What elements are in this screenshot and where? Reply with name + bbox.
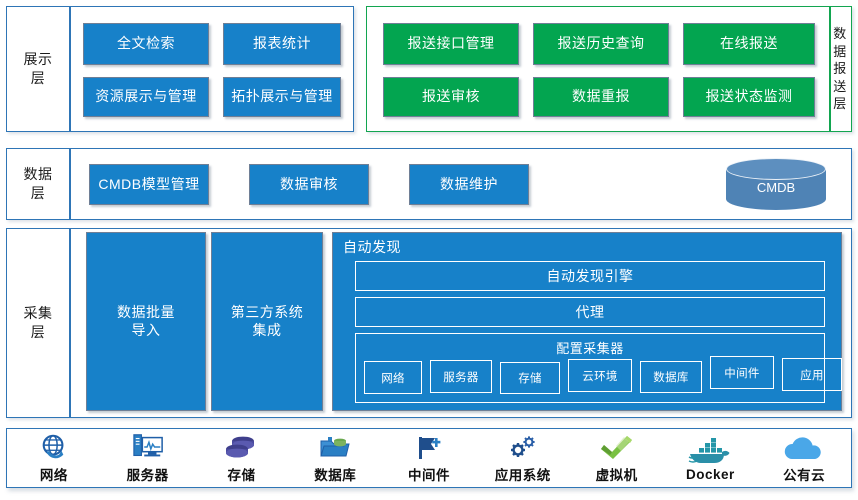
- resource-item-virtual-machine[interactable]: 虚拟机: [570, 429, 664, 487]
- collection-layer-panel: 采集 层 数据批量 导入 第三方系统 集成 自动发现 自动发现引擎 代理 配置采…: [6, 228, 852, 418]
- tile-report-history-query[interactable]: 报送历史查询: [533, 23, 669, 65]
- resource-item-docker[interactable]: Docker: [663, 429, 757, 487]
- cmdb-database-label: CMDB: [757, 180, 795, 195]
- resource-label-storage: 存储: [227, 464, 255, 484]
- database-folder-icon: [318, 432, 352, 462]
- resource-item-public-cloud[interactable]: 公有云: [757, 429, 851, 487]
- data-layer-label-line-2: 层: [31, 185, 46, 201]
- tile-cmdb-model-management[interactable]: CMDB模型管理: [89, 164, 209, 205]
- docker-whale-icon: [688, 435, 732, 465]
- resource-label-middleware: 中间件: [408, 464, 450, 484]
- tile-third-party-integration-line-1: 第三方系统: [231, 304, 304, 320]
- presentation-layer-panel: 展示 层 全文检索 报表统计 资源展示与管理 拓扑展示与管理: [6, 6, 354, 132]
- application-gears-icon: [507, 432, 539, 462]
- data-layer-panel: 数据 层 CMDB模型管理 数据审核 数据维护 CMDB: [6, 148, 852, 220]
- collector-chip-network[interactable]: 网络: [364, 361, 422, 394]
- report-layer-label-line-1: 数据: [833, 26, 847, 59]
- resource-icon-bar: 网络 服务器: [6, 428, 852, 488]
- resource-label-database: 数据库: [314, 464, 356, 484]
- tile-bulk-data-import[interactable]: 数据批量 导入: [86, 232, 206, 411]
- collection-layer-label-line-1: 采集: [24, 305, 53, 321]
- collector-chip-application[interactable]: 应用: [782, 358, 842, 391]
- storage-disks-icon: [224, 432, 258, 462]
- auto-discovery-engine-box[interactable]: 自动发现引擎: [355, 261, 825, 291]
- collector-chip-storage[interactable]: 存储: [500, 362, 560, 394]
- report-layer-label: 数据 报送 层: [829, 7, 851, 131]
- configuration-collector-title: 配置采集器: [356, 338, 824, 357]
- cmdb-database-cylinder: CMDB: [726, 158, 826, 210]
- data-layer-label-line-1: 数据: [24, 166, 53, 182]
- tile-report-status-monitor[interactable]: 报送状态监测: [683, 77, 815, 117]
- tile-online-report[interactable]: 在线报送: [683, 23, 815, 65]
- report-layer-label-line-2: 报送: [833, 61, 847, 94]
- resource-item-application-system[interactable]: 应用系统: [476, 429, 570, 487]
- resource-item-server[interactable]: 服务器: [101, 429, 195, 487]
- collector-chip-middleware[interactable]: 中间件: [710, 356, 774, 389]
- collector-chip-server[interactable]: 服务器: [430, 360, 492, 393]
- resource-item-network[interactable]: 网络: [7, 429, 101, 487]
- tile-bulk-data-import-line-2: 导入: [132, 322, 161, 338]
- collector-chip-cloud-environment[interactable]: 云环境: [568, 359, 632, 392]
- collection-layer-label: 采集 层: [7, 229, 69, 417]
- server-monitor-icon: [132, 432, 164, 462]
- tile-third-party-integration[interactable]: 第三方系统 集成: [211, 232, 323, 411]
- virtual-machine-check-icon: [599, 432, 635, 462]
- collector-chip-database[interactable]: 数据库: [640, 361, 702, 393]
- collection-layer-label-line-2: 层: [31, 324, 46, 340]
- public-cloud-icon: [783, 432, 825, 462]
- tile-full-text-search[interactable]: 全文检索: [83, 23, 209, 65]
- report-layer-label-line-3: 层: [833, 96, 847, 111]
- tile-data-maintenance[interactable]: 数据维护: [409, 164, 529, 205]
- resource-label-network: 网络: [40, 464, 68, 484]
- globe-network-icon: [39, 432, 69, 462]
- auto-discovery-panel: 自动发现 自动发现引擎 代理 配置采集器 网络 服务器 存储 云环境 数据库 中…: [332, 232, 842, 411]
- presentation-layer-label-line-2: 层: [31, 70, 46, 86]
- data-layer-label: 数据 层: [7, 149, 69, 219]
- auto-discovery-title: 自动发现: [343, 237, 401, 257]
- presentation-layer-divider: [69, 7, 71, 131]
- tile-resource-display-management[interactable]: 资源展示与管理: [83, 77, 209, 117]
- auto-discovery-agent-box[interactable]: 代理: [355, 297, 825, 327]
- tile-report-review[interactable]: 报送审核: [383, 77, 519, 117]
- resource-label-server: 服务器: [127, 464, 169, 484]
- tile-report-statistics[interactable]: 报表统计: [223, 23, 341, 65]
- resource-item-storage[interactable]: 存储: [195, 429, 289, 487]
- data-layer-divider: [69, 149, 71, 219]
- middleware-flag-icon: [415, 432, 443, 462]
- resource-item-database[interactable]: 数据库: [288, 429, 382, 487]
- resource-label-virtual-machine: 虚拟机: [596, 464, 638, 484]
- presentation-layer-label: 展示 层: [7, 7, 69, 131]
- collection-layer-divider: [69, 229, 71, 417]
- tile-report-interface-management[interactable]: 报送接口管理: [383, 23, 519, 65]
- tile-data-resend[interactable]: 数据重报: [533, 77, 669, 117]
- resource-label-public-cloud: 公有云: [783, 464, 825, 484]
- presentation-layer-label-line-1: 展示: [24, 51, 53, 67]
- architecture-diagram: 展示 层 全文检索 报表统计 资源展示与管理 拓扑展示与管理 报送接口管理 报送…: [0, 0, 858, 500]
- resource-label-application-system: 应用系统: [495, 464, 551, 484]
- resource-label-docker: Docker: [686, 467, 735, 482]
- report-layer-panel: 报送接口管理 报送历史查询 在线报送 报送审核 数据重报 报送状态监测 数据 报…: [366, 6, 852, 132]
- tile-data-review[interactable]: 数据审核: [249, 164, 369, 205]
- cylinder-top: [726, 158, 826, 180]
- tile-third-party-integration-line-2: 集成: [253, 322, 282, 338]
- tile-topology-display-management[interactable]: 拓扑展示与管理: [223, 77, 341, 117]
- configuration-collector-box: 配置采集器 网络 服务器 存储 云环境 数据库 中间件 应用: [355, 333, 825, 403]
- resource-item-middleware[interactable]: 中间件: [382, 429, 476, 487]
- tile-bulk-data-import-line-1: 数据批量: [117, 304, 175, 320]
